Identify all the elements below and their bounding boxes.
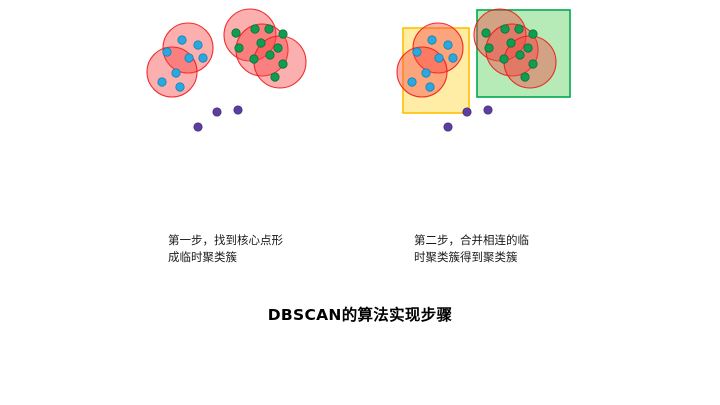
core-point <box>516 51 524 59</box>
noise-point <box>444 123 452 131</box>
core-point <box>274 44 282 52</box>
step-2-caption: 第二步，合并相连的临 时聚类簇得到聚类簇 <box>360 232 714 266</box>
core-point <box>176 83 184 91</box>
core-point <box>500 55 508 63</box>
core-point <box>235 44 243 52</box>
core-point <box>158 78 166 86</box>
page-title: DBSCAN的算法实现步骤 <box>0 303 720 325</box>
noise-point <box>213 108 221 116</box>
core-point <box>529 30 537 38</box>
core-point <box>232 29 240 37</box>
core-point <box>413 48 421 56</box>
core-point <box>251 25 259 33</box>
core-point <box>435 54 443 62</box>
core-point <box>257 39 265 47</box>
core-point <box>482 29 490 37</box>
slide-canvas: 第一步，找到核心点形 成临时聚类簇 第二步，合并相连的临 时聚类簇得到聚类簇 D… <box>0 0 720 405</box>
core-point <box>271 73 279 81</box>
core-point <box>444 41 452 49</box>
core-point <box>279 60 287 68</box>
core-point <box>515 25 523 33</box>
green-cluster-group <box>224 9 306 88</box>
core-point <box>178 36 186 44</box>
core-point <box>279 30 287 38</box>
core-point <box>163 48 171 56</box>
panel-step-2: 第二步，合并相连的临 时聚类簇得到聚类簇 <box>360 0 660 290</box>
core-point <box>265 25 273 33</box>
core-point <box>507 39 515 47</box>
step-2-diagram <box>360 0 660 220</box>
core-point <box>185 54 193 62</box>
core-point <box>408 78 416 86</box>
core-point <box>172 69 180 77</box>
core-point <box>485 44 493 52</box>
core-point <box>501 25 509 33</box>
noise-point <box>194 123 202 131</box>
noise-point <box>463 108 471 116</box>
core-point <box>250 55 258 63</box>
core-point <box>524 44 532 52</box>
core-point <box>428 36 436 44</box>
core-point <box>266 51 274 59</box>
noise-point <box>234 106 242 114</box>
blue-cluster-group <box>147 23 213 97</box>
core-point <box>194 41 202 49</box>
core-point <box>426 83 434 91</box>
core-point <box>199 54 207 62</box>
core-point <box>521 73 529 81</box>
core-point <box>422 69 430 77</box>
core-point <box>449 54 457 62</box>
noise-point <box>484 106 492 114</box>
core-point <box>529 60 537 68</box>
